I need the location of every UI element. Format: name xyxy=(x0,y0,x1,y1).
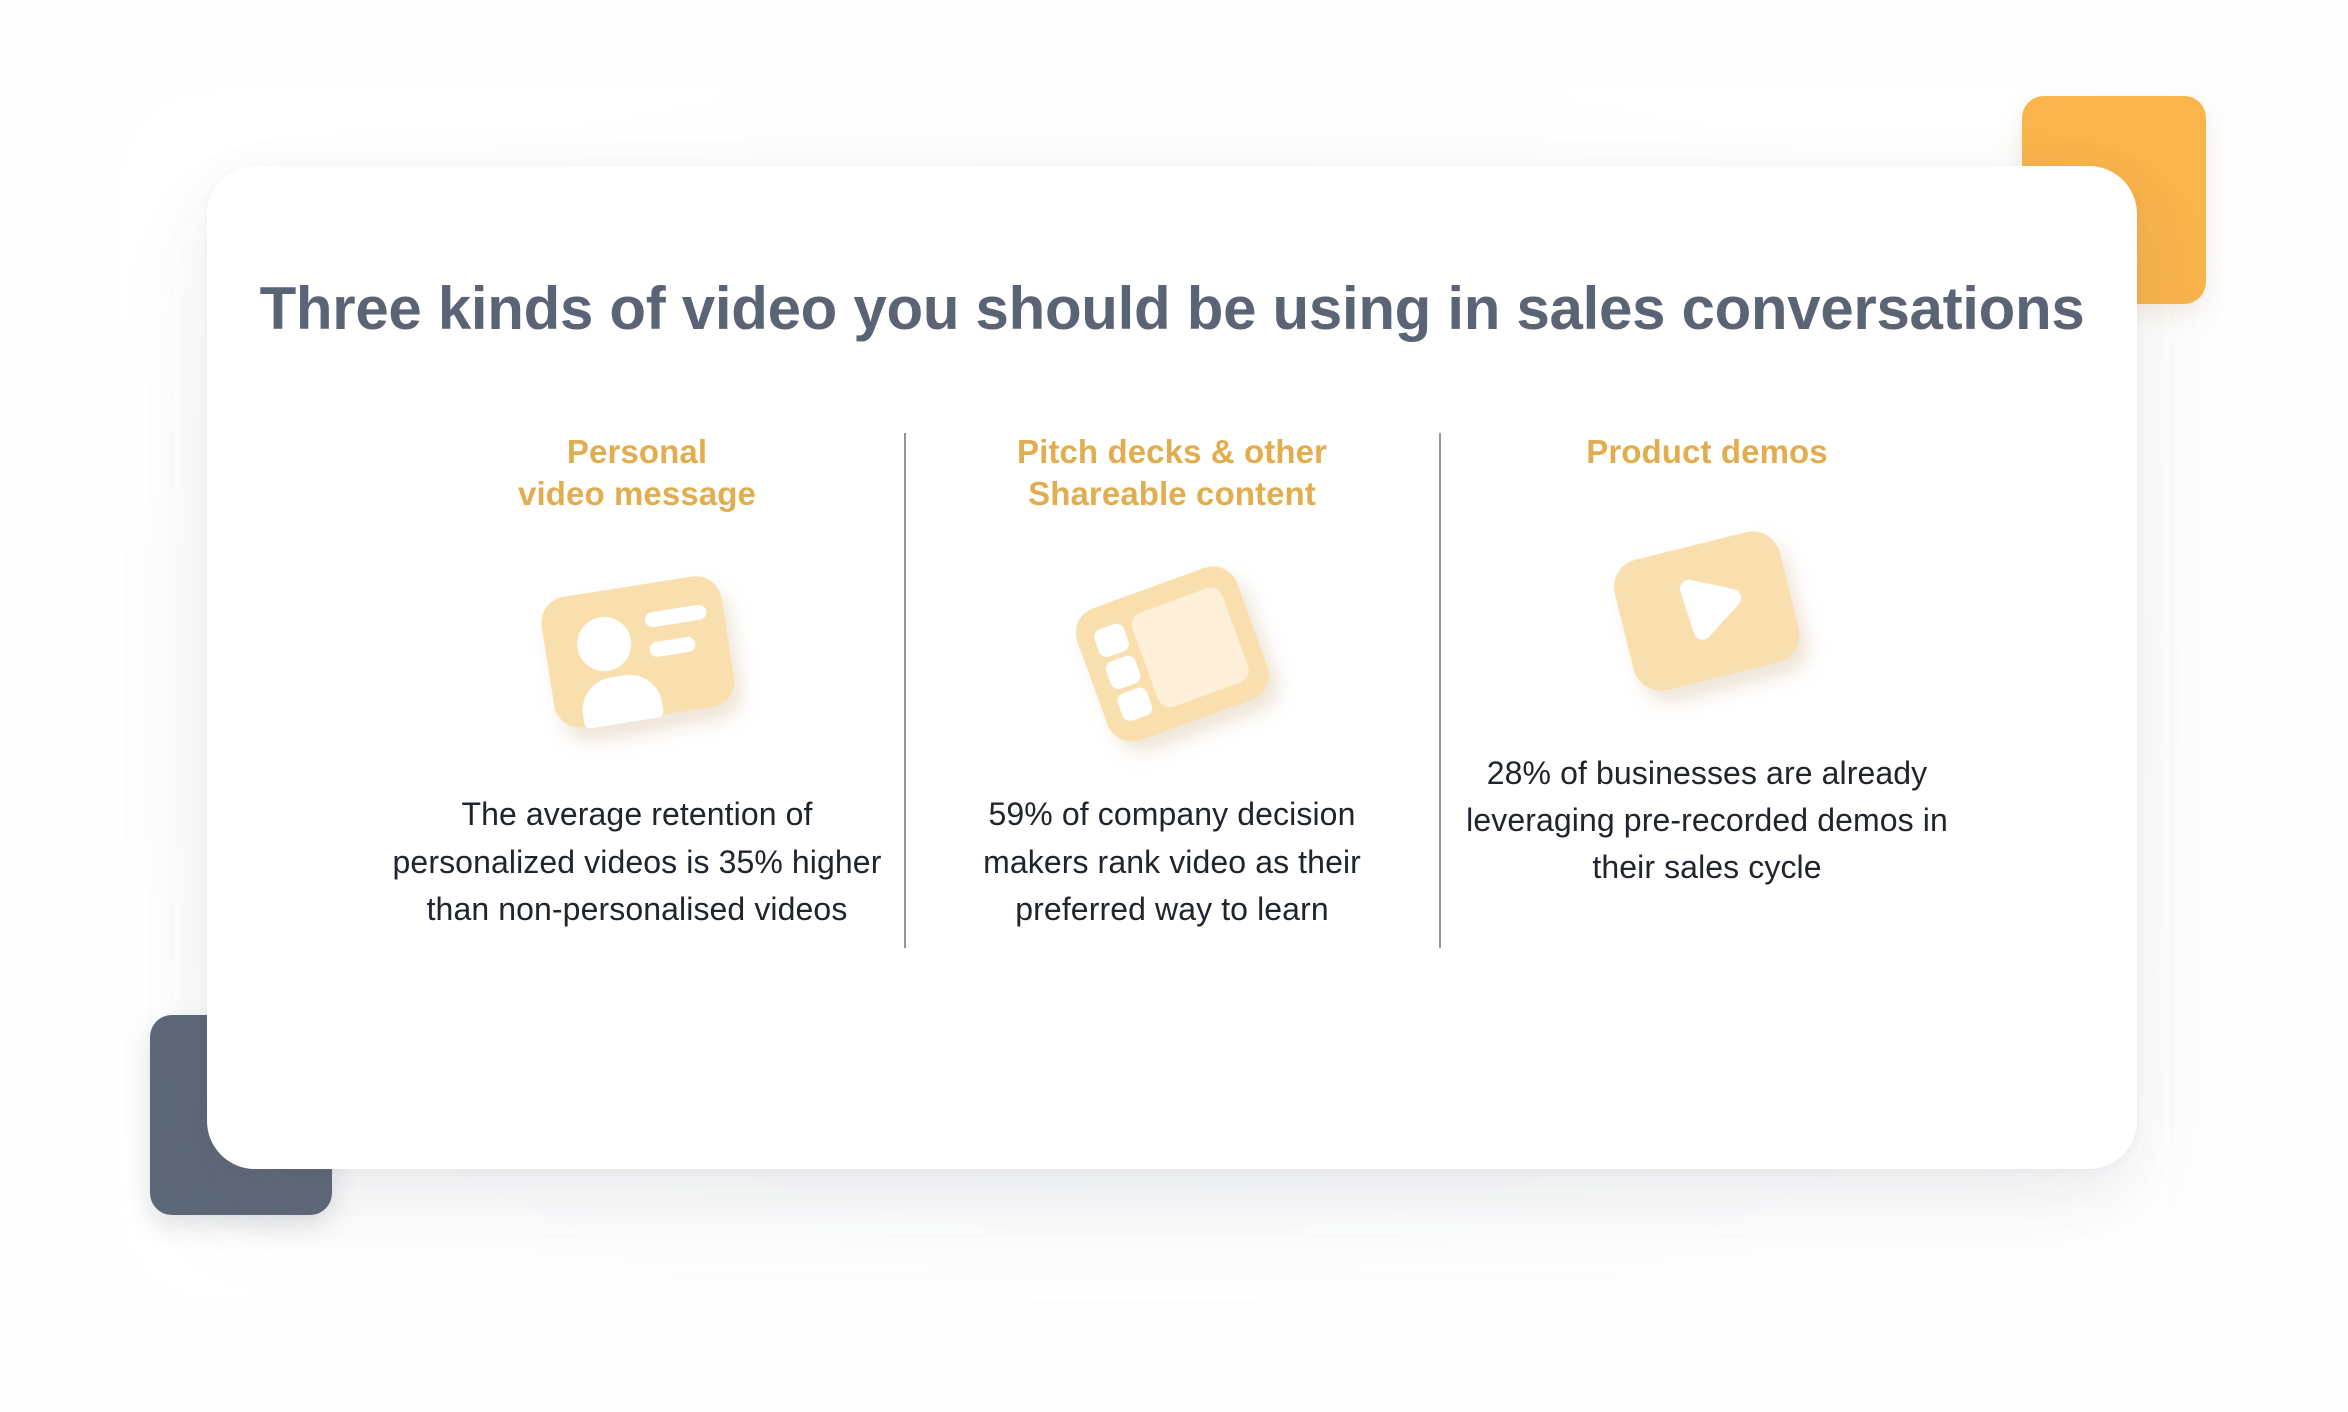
personal-video-message-icon xyxy=(522,561,752,746)
column-heading-line1: Product demos xyxy=(1586,433,1828,470)
column-pitch-decks: Pitch decks & other Shareable content xyxy=(906,431,1439,933)
icon-container xyxy=(487,546,787,761)
column-heading: Product demos xyxy=(1586,431,1828,473)
column-heading-line2: video message xyxy=(518,475,756,512)
pitch-deck-slides-icon xyxy=(1057,556,1287,751)
columns-container: Personal video message xyxy=(299,431,2045,948)
page-title: Three kinds of video you should be using… xyxy=(207,274,2137,343)
column-heading-line2: Shareable content xyxy=(1028,475,1316,512)
column-product-demos: Product demos xyxy=(1441,431,1974,892)
column-body-text: 59% of company decision makers rank vide… xyxy=(937,791,1407,933)
column-heading-line1: Pitch decks & other xyxy=(1017,433,1327,470)
column-heading: Pitch decks & other Shareable content xyxy=(1017,431,1327,514)
infographic-stage: Three kinds of video you should be using… xyxy=(0,0,2348,1412)
content-card: Three kinds of video you should be using… xyxy=(207,166,2137,1169)
column-divider-1 xyxy=(904,433,906,948)
icon-container xyxy=(1557,505,1857,720)
column-heading-line1: Personal xyxy=(567,433,707,470)
column-heading: Personal video message xyxy=(518,431,756,514)
column-divider-2 xyxy=(1439,433,1441,948)
play-button-demo-icon xyxy=(1592,520,1822,705)
column-body-text: 28% of businesses are already leveraging… xyxy=(1457,750,1957,892)
icon-container xyxy=(1022,546,1322,761)
column-body-text: The average retention of personalized vi… xyxy=(382,791,892,933)
column-personal-video-message: Personal video message xyxy=(371,431,904,933)
